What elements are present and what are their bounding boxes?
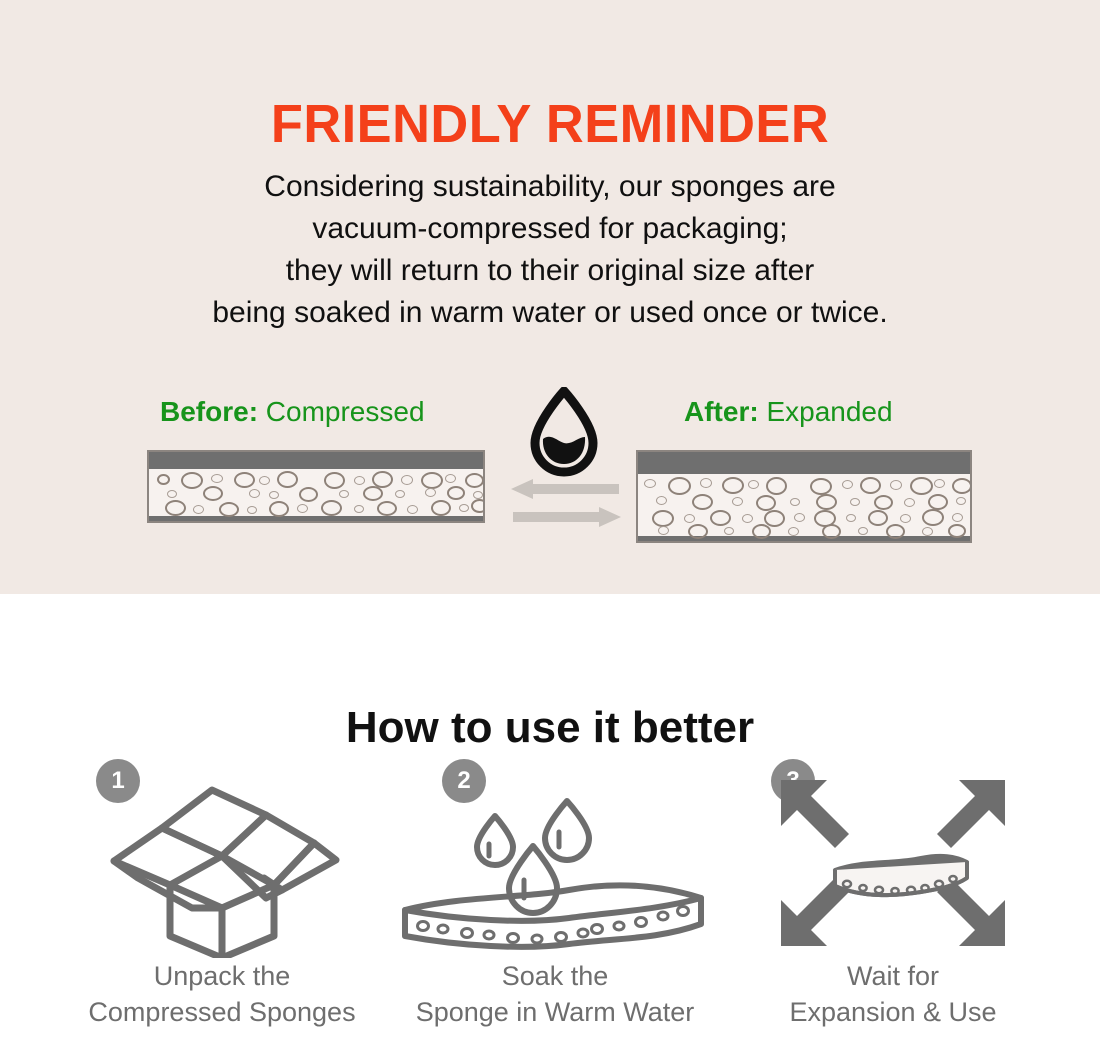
expanding-arrows-sponge-icon <box>723 768 1063 958</box>
two-way-arrows-icon <box>511 479 621 527</box>
before-label-rest: Compressed <box>266 396 425 427</box>
step-caption-line-1: Wait for <box>723 958 1063 994</box>
sponge-scrub-pad <box>638 452 970 474</box>
compressed-sponge-icon <box>147 450 485 523</box>
after-label: After: Expanded <box>684 396 893 428</box>
howto-step-2: 2 <box>385 754 725 1034</box>
step-caption: Soak the Sponge in Warm Water <box>385 958 725 1030</box>
step-caption: Unpack the Compressed Sponges <box>52 958 392 1030</box>
reminder-line-2: vacuum-compressed for packaging; <box>0 208 1100 250</box>
after-label-strong: After: <box>684 396 759 427</box>
transform-indicator-group <box>505 387 625 527</box>
water-drops-on-sponge-icon <box>385 768 725 958</box>
step-caption-line-1: Soak the <box>385 958 725 994</box>
how-to-use-section: How to use it better 1 <box>0 594 1100 1039</box>
step-caption-line-1: Unpack the <box>52 958 392 994</box>
page-title: FRIENDLY REMINDER <box>17 93 1084 155</box>
section-title: How to use it better <box>0 703 1100 753</box>
before-label: Before: Compressed <box>160 396 425 428</box>
sponge-bottom-edge <box>149 516 483 521</box>
sponge-bottom-edge <box>638 536 970 541</box>
before-label-strong: Before: <box>160 396 258 427</box>
sponge-scrub-pad <box>149 452 483 469</box>
expanded-sponge-icon <box>636 450 972 543</box>
step-caption-line-2: Sponge in Warm Water <box>385 994 725 1030</box>
reminder-line-4: being soaked in warm water or used once … <box>0 292 1100 334</box>
reminder-line-1: Considering sustainability, our sponges … <box>0 166 1100 208</box>
friendly-reminder-section: FRIENDLY REMINDER Considering sustainabi… <box>0 0 1100 594</box>
howto-step-1: 1 <box>52 754 392 1034</box>
infographic-page: FRIENDLY REMINDER Considering sustainabi… <box>0 0 1100 1039</box>
step-caption-line-2: Expansion & Use <box>723 994 1063 1030</box>
howto-step-3: 3 <box>723 754 1063 1034</box>
water-drop-icon <box>527 387 601 477</box>
open-box-icon <box>52 768 392 958</box>
step-caption-line-2: Compressed Sponges <box>52 994 392 1030</box>
step-caption: Wait for Expansion & Use <box>723 958 1063 1030</box>
reminder-body-text: Considering sustainability, our sponges … <box>0 166 1100 334</box>
reminder-line-3: they will return to their original size … <box>0 250 1100 292</box>
after-label-rest: Expanded <box>766 396 892 427</box>
